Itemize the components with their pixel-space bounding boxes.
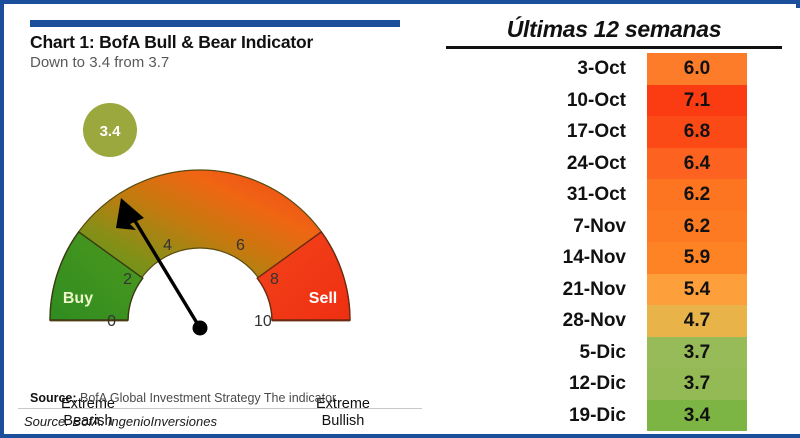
table-row: 31-Oct6.2 bbox=[428, 179, 800, 211]
footer-source: Source: BofA. IngenioInversiones bbox=[24, 414, 414, 429]
table-row: 21-Nov5.4 bbox=[428, 274, 800, 306]
table-cell-date: 28-Nov bbox=[428, 305, 636, 337]
table-row: 17-Oct6.8 bbox=[428, 116, 800, 148]
table-row: 12-Dic3.7 bbox=[428, 368, 800, 400]
heading-underline bbox=[446, 46, 782, 49]
table-cell-date: 17-Oct bbox=[428, 116, 636, 148]
weekly-table-heading: Últimas 12 semanas bbox=[436, 16, 792, 43]
table-cell-value: 3.4 bbox=[647, 400, 747, 432]
table-row: 19-Dic3.4 bbox=[428, 400, 800, 432]
infographic-root: Chart 1: BofA Bull & Bear Indicator Down… bbox=[0, 0, 800, 438]
gauge-needle-pivot bbox=[193, 321, 208, 336]
table-row: 10-Oct7.1 bbox=[428, 85, 800, 117]
table-cell-value: 3.7 bbox=[647, 368, 747, 400]
table-row: 14-Nov5.9 bbox=[428, 242, 800, 274]
table-row: 7-Nov6.2 bbox=[428, 211, 800, 243]
table-cell-date: 24-Oct bbox=[428, 148, 636, 180]
table-row: 3-Oct6.0 bbox=[428, 53, 800, 85]
table-row: 24-Oct6.4 bbox=[428, 148, 800, 180]
table-cell-value: 6.2 bbox=[647, 211, 747, 243]
gauge-chart: 0 2 4 6 8 10 Buy Sell 3.4 Extreme Beari bbox=[8, 78, 428, 378]
chart-source-label: Source: bbox=[30, 391, 77, 405]
gauge-tick-8: 8 bbox=[270, 271, 279, 288]
gauge-svg: 0 2 4 6 8 10 Buy Sell 3.4 bbox=[8, 78, 428, 378]
table-cell-date: 12-Dic bbox=[428, 368, 636, 400]
table-cell-value: 4.7 bbox=[647, 305, 747, 337]
footer-divider bbox=[18, 408, 422, 409]
table-cell-value: 6.8 bbox=[647, 116, 747, 148]
table-cell-value: 6.4 bbox=[647, 148, 747, 180]
table-cell-value: 5.4 bbox=[647, 274, 747, 306]
gauge-tick-4: 4 bbox=[163, 237, 172, 254]
chart-source-text: BofA Global Investment Strategy The indi… bbox=[77, 391, 337, 405]
weekly-table-panel: Últimas 12 semanas 3-Oct6.010-Oct7.117-O… bbox=[428, 8, 800, 434]
table-row: 28-Nov4.7 bbox=[428, 305, 800, 337]
table-cell-date: 31-Oct bbox=[428, 179, 636, 211]
table-cell-value: 3.7 bbox=[647, 337, 747, 369]
table-cell-date: 14-Nov bbox=[428, 242, 636, 274]
gauge-buy-label: Buy bbox=[63, 290, 93, 307]
gauge-tick-10: 10 bbox=[254, 313, 272, 330]
table-cell-value: 6.2 bbox=[647, 179, 747, 211]
bull-bear-chart-card: Chart 1: BofA Bull & Bear Indicator Down… bbox=[8, 8, 428, 434]
table-cell-value: 5.9 bbox=[647, 242, 747, 274]
gauge-tick-2: 2 bbox=[123, 271, 132, 288]
table-cell-value: 6.0 bbox=[647, 53, 747, 85]
page-title: Chart 1: BofA Bull & Bear Indicator bbox=[30, 32, 410, 53]
weekly-table: 3-Oct6.010-Oct7.117-Oct6.824-Oct6.431-Oc… bbox=[428, 53, 800, 431]
table-cell-date: 7-Nov bbox=[428, 211, 636, 243]
table-cell-date: 3-Oct bbox=[428, 53, 636, 85]
chart-subtitle: Down to 3.4 from 3.7 bbox=[30, 54, 410, 71]
gauge-sell-label: Sell bbox=[309, 290, 337, 307]
accent-rule bbox=[30, 20, 400, 27]
table-cell-value: 7.1 bbox=[647, 85, 747, 117]
gauge-value-text: 3.4 bbox=[100, 123, 122, 140]
chart-source-line: Source: BofA Global Investment Strategy … bbox=[30, 391, 420, 405]
table-cell-date: 19-Dic bbox=[428, 400, 636, 432]
gauge-tick-6: 6 bbox=[236, 237, 245, 254]
table-row: 5-Dic3.7 bbox=[428, 337, 800, 369]
table-cell-date: 10-Oct bbox=[428, 85, 636, 117]
table-cell-date: 21-Nov bbox=[428, 274, 636, 306]
table-cell-date: 5-Dic bbox=[428, 337, 636, 369]
gauge-tick-0: 0 bbox=[107, 313, 116, 330]
